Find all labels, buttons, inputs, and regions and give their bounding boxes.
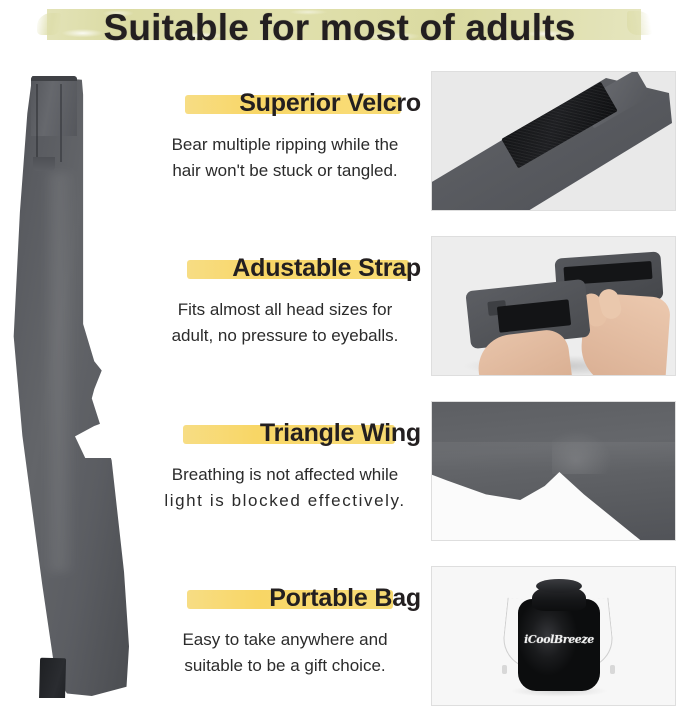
page-banner: Suitable for most of adults: [0, 0, 679, 56]
feature-block-triangle-wing: Triangle Wing Breathing is not affected …: [139, 416, 431, 514]
sleep-mask-strap-illustration: [3, 62, 139, 698]
hero-product-photo: [3, 62, 139, 698]
feature-heading: Triangle Wing: [260, 416, 421, 450]
feature-heading: Portable Bag: [269, 581, 421, 615]
strap-seam-left: [36, 84, 38, 162]
velcro-patch: [38, 658, 66, 698]
feature-body-line: Bear multiple ripping while the: [139, 132, 431, 158]
drawstring-tip-left: [502, 665, 507, 674]
feature-body: Fits almost all head sizes for adult, no…: [139, 297, 431, 349]
pouch-brand-logo: iCoolBreeze: [518, 633, 600, 646]
feature-body-line: adult, no pressure to eyeballs.: [139, 323, 431, 349]
feature-body: Bear multiple ripping while the hair won…: [139, 132, 431, 184]
velcro-closeup-photo: [431, 71, 676, 211]
feature-heading-wrap: Triangle Wing: [139, 416, 431, 450]
drawstring-tip-right: [610, 665, 615, 674]
feature-heading-wrap: Superior Velcro: [139, 86, 431, 120]
hands-holding-mask-photo: [431, 236, 676, 376]
triangle-wing-photo: [431, 401, 676, 541]
feature-body: Easy to take anywhere and suitable to be…: [139, 627, 431, 679]
strap-fabric-highlight: [43, 172, 77, 572]
strap-top-edge: [31, 76, 77, 81]
feature-heading-wrap: Adustable Strap: [139, 251, 431, 285]
portable-bag-photo: iCoolBreeze: [431, 566, 676, 706]
feature-body: Breathing is not affected while light is…: [139, 462, 431, 514]
feature-body-line: suitable to be a gift choice.: [139, 653, 431, 679]
feature-block-superior-velcro: Superior Velcro Bear multiple ripping wh…: [139, 86, 431, 184]
strap-fold: [33, 157, 55, 171]
feature-heading-wrap: Portable Bag: [139, 581, 431, 615]
pouch-ruffle-top: [536, 579, 582, 593]
strap-seam-right: [60, 84, 62, 162]
nose-wing-crease: [552, 430, 612, 474]
feature-heading: Adustable Strap: [232, 251, 421, 285]
feature-body-line: hair won't be stuck or tangled.: [139, 158, 431, 184]
feature-block-adustable-strap: Adustable Strap Fits almost all head siz…: [139, 251, 431, 349]
page-title: Suitable for most of adults: [0, 0, 679, 56]
feature-body-line: Breathing is not affected while: [139, 462, 431, 488]
feature-heading: Superior Velcro: [239, 86, 421, 120]
feature-body-line: light is blocked effectively.: [139, 488, 431, 514]
feature-body-line: Fits almost all head sizes for: [139, 297, 431, 323]
feature-body-line: Easy to take anywhere and: [139, 627, 431, 653]
feature-block-portable-bag: Portable Bag Easy to take anywhere and s…: [139, 581, 431, 679]
